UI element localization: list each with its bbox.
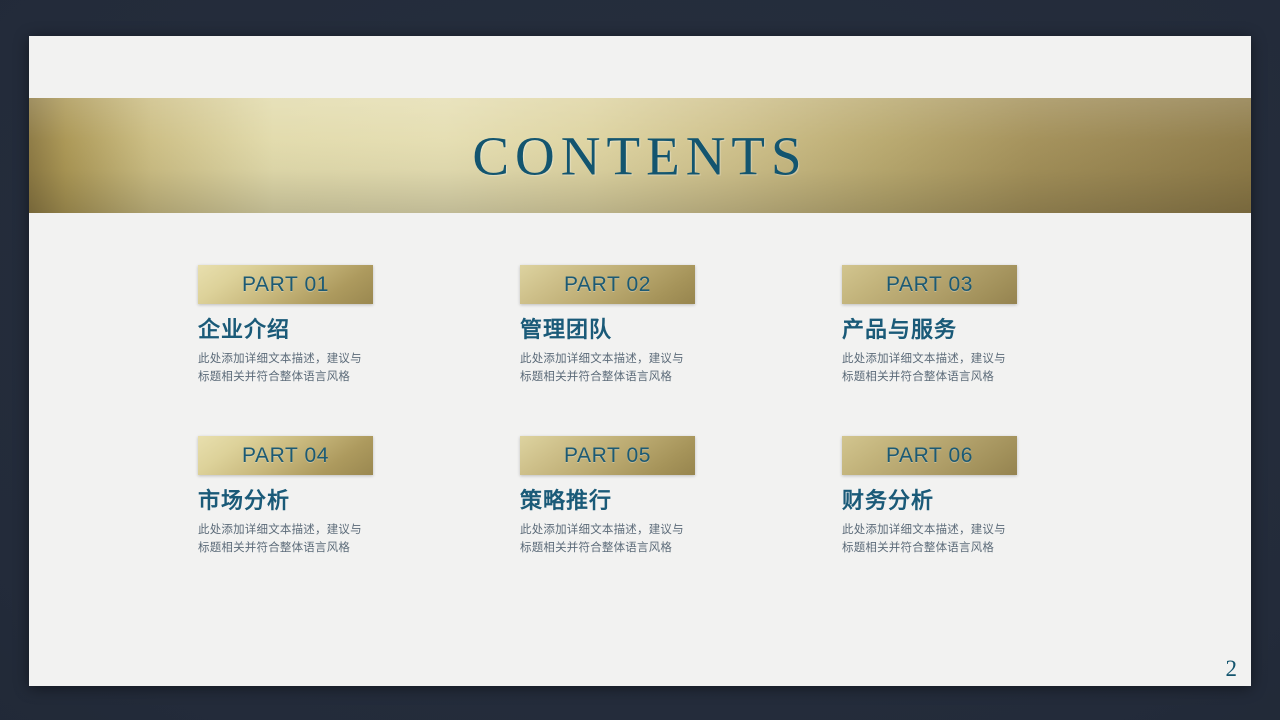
- part-badge-label: PART 02: [564, 273, 651, 297]
- part-description: 此处添加详细文本描述，建议与标题相关并符合整体语言风格: [842, 522, 1014, 558]
- part-badge-label: PART 04: [242, 444, 329, 468]
- contents-item-part-03[interactable]: PART 03 产品与服务 此处添加详细文本描述，建议与标题相关并符合整体语言风…: [842, 265, 1162, 436]
- title-band: CONTENTS: [29, 98, 1251, 213]
- page-number: 2: [1226, 656, 1238, 682]
- part-description: 此处添加详细文本描述，建议与标题相关并符合整体语言风格: [520, 351, 692, 387]
- slide-canvas: CONTENTS PART 01 企业介绍 此处添加详细文本描述，建议与标题相关…: [29, 36, 1251, 686]
- part-title: 管理团队: [520, 318, 840, 342]
- page-title: CONTENTS: [29, 124, 1251, 187]
- part-badge-05[interactable]: PART 05: [520, 436, 695, 475]
- part-description: 此处添加详细文本描述，建议与标题相关并符合整体语言风格: [520, 522, 692, 558]
- part-badge-label: PART 03: [886, 273, 973, 297]
- part-badge-06[interactable]: PART 06: [842, 436, 1017, 475]
- part-title: 产品与服务: [842, 318, 1162, 342]
- part-description: 此处添加详细文本描述，建议与标题相关并符合整体语言风格: [198, 522, 370, 558]
- part-title: 财务分析: [842, 489, 1162, 513]
- part-badge-03[interactable]: PART 03: [842, 265, 1017, 304]
- part-badge-label: PART 06: [886, 444, 973, 468]
- part-badge-01[interactable]: PART 01: [198, 265, 373, 304]
- part-title: 市场分析: [198, 489, 518, 513]
- contents-item-part-04[interactable]: PART 04 市场分析 此处添加详细文本描述，建议与标题相关并符合整体语言风格: [198, 436, 518, 607]
- part-description: 此处添加详细文本描述，建议与标题相关并符合整体语言风格: [198, 351, 370, 387]
- contents-item-part-01[interactable]: PART 01 企业介绍 此处添加详细文本描述，建议与标题相关并符合整体语言风格: [198, 265, 518, 436]
- contents-item-part-06[interactable]: PART 06 财务分析 此处添加详细文本描述，建议与标题相关并符合整体语言风格: [842, 436, 1162, 607]
- contents-grid: PART 01 企业介绍 此处添加详细文本描述，建议与标题相关并符合整体语言风格…: [198, 265, 1098, 607]
- part-badge-label: PART 01: [242, 273, 329, 297]
- part-badge-04[interactable]: PART 04: [198, 436, 373, 475]
- part-badge-02[interactable]: PART 02: [520, 265, 695, 304]
- contents-item-part-02[interactable]: PART 02 管理团队 此处添加详细文本描述，建议与标题相关并符合整体语言风格: [520, 265, 840, 436]
- part-description: 此处添加详细文本描述，建议与标题相关并符合整体语言风格: [842, 351, 1014, 387]
- part-title: 企业介绍: [198, 318, 518, 342]
- part-title: 策略推行: [520, 489, 840, 513]
- part-badge-label: PART 05: [564, 444, 651, 468]
- contents-item-part-05[interactable]: PART 05 策略推行 此处添加详细文本描述，建议与标题相关并符合整体语言风格: [520, 436, 840, 607]
- slide-backdrop: CONTENTS PART 01 企业介绍 此处添加详细文本描述，建议与标题相关…: [0, 0, 1280, 720]
